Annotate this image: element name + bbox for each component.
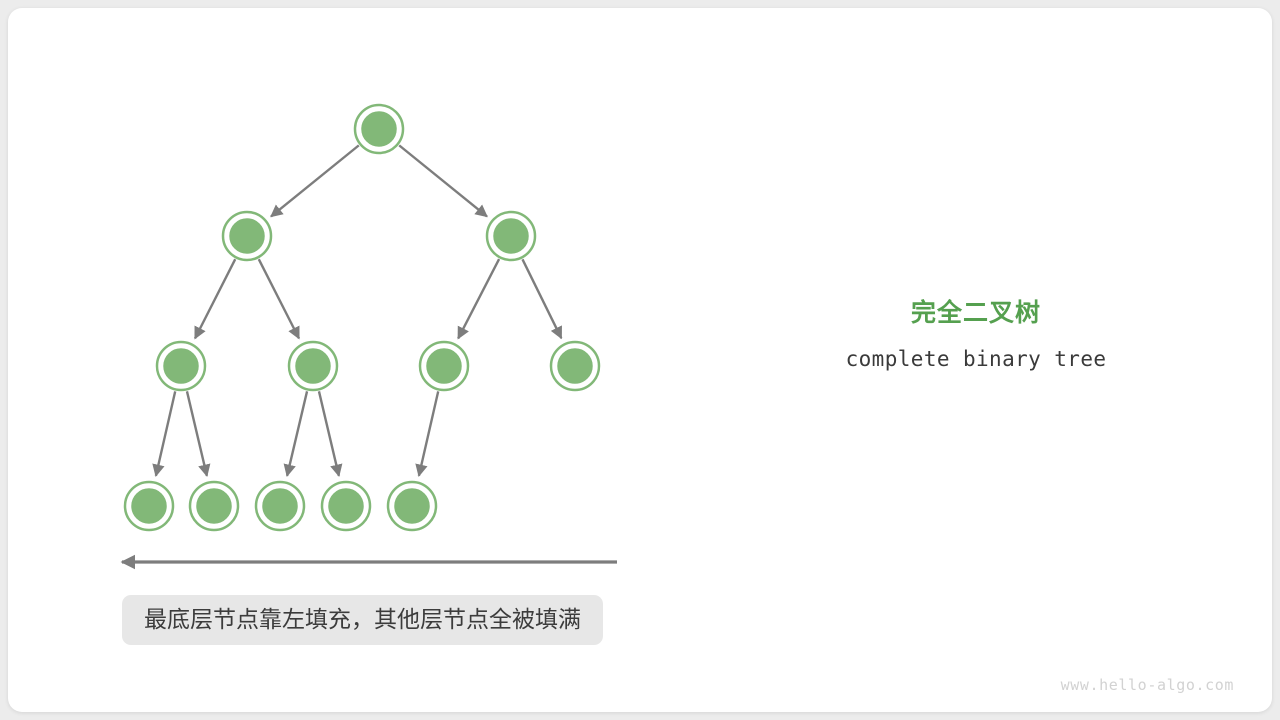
node-fill: [228, 217, 266, 255]
tree-edge: [419, 391, 438, 475]
tree-edge: [195, 259, 235, 338]
node-fill: [195, 487, 233, 525]
figure-card: 完全二叉树 complete binary tree 最底层节点靠左填充，其他层…: [8, 8, 1272, 712]
node-fill: [492, 217, 530, 255]
tree-edge: [259, 259, 299, 338]
node-fill: [360, 110, 398, 148]
tree-node: [289, 342, 337, 390]
node-fill: [327, 487, 365, 525]
tree-edge: [271, 145, 359, 216]
tree-edge: [458, 259, 499, 338]
tree-edge: [319, 391, 339, 476]
tree-edge: [156, 391, 175, 475]
caption-badge: 最底层节点靠左填充，其他层节点全被填满: [122, 595, 603, 645]
page-subtitle: complete binary tree: [776, 344, 1176, 374]
tree-edge: [399, 145, 487, 216]
tree-node: [388, 482, 436, 530]
tree-edge: [187, 391, 207, 476]
tree-node: [256, 482, 304, 530]
tree-node: [223, 212, 271, 260]
tree-edges: [156, 145, 561, 475]
tree-nodes: [125, 105, 599, 530]
tree-node: [157, 342, 205, 390]
node-fill: [425, 347, 463, 385]
page-title: 完全二叉树: [776, 296, 1176, 330]
tree-node: [420, 342, 468, 390]
tree-node: [355, 105, 403, 153]
tree-node: [125, 482, 173, 530]
tree-node: [551, 342, 599, 390]
node-fill: [261, 487, 299, 525]
node-fill: [162, 347, 200, 385]
legend-block: 完全二叉树 complete binary tree: [776, 296, 1176, 374]
tree-node: [487, 212, 535, 260]
node-fill: [130, 487, 168, 525]
tree-edge: [522, 259, 561, 338]
node-fill: [393, 487, 431, 525]
node-fill: [556, 347, 594, 385]
tree-edge: [287, 391, 307, 476]
tree-node: [322, 482, 370, 530]
node-fill: [294, 347, 332, 385]
tree-node: [190, 482, 238, 530]
watermark: www.hello-algo.com: [1061, 676, 1234, 694]
